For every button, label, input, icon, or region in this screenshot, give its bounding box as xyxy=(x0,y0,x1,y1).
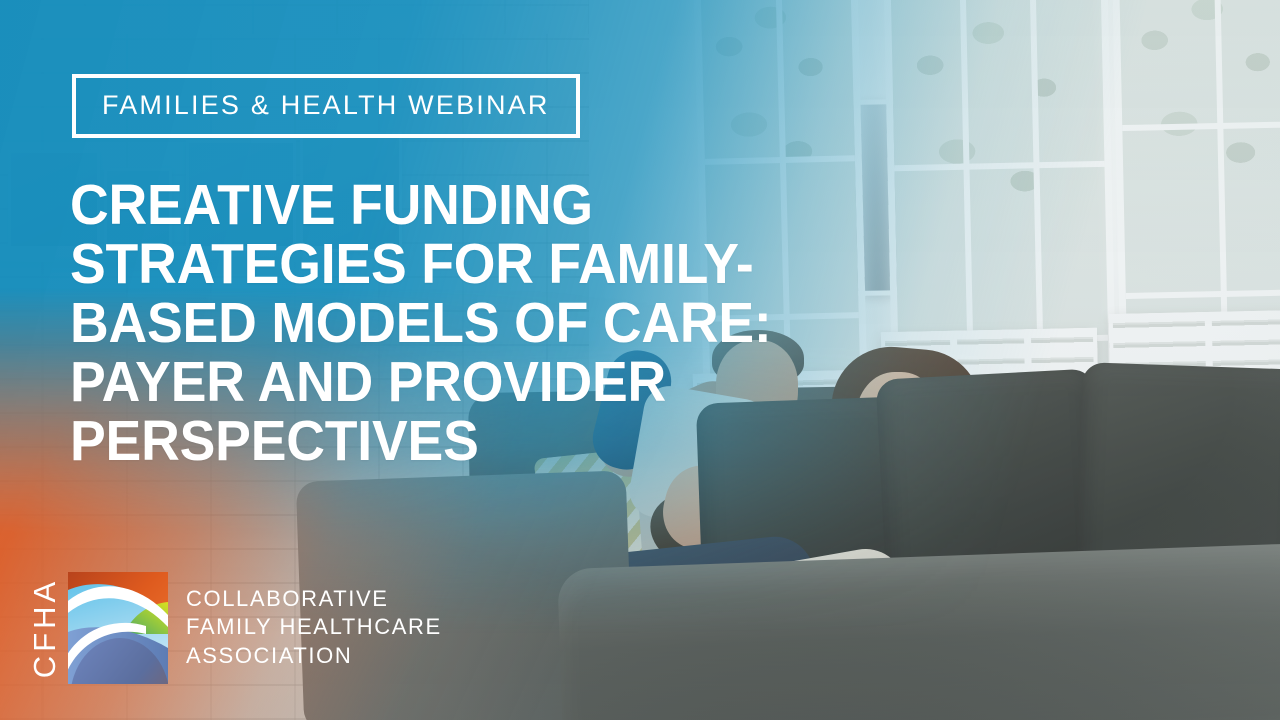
webinar-promo-graphic: FAMILIES & HEALTH WEBINAR CREATIVE FUNDI… xyxy=(0,0,1280,720)
page-title: CREATIVE FUNDING STRATEGIES FOR FAMILY- … xyxy=(70,176,766,471)
title-line-4: PAYER AND PROVIDER xyxy=(70,353,766,412)
cfha-arc-logo-icon xyxy=(68,572,168,684)
title-line-3: BASED MODELS OF CARE: xyxy=(70,294,766,353)
cfha-logo: CFHA xyxy=(28,565,442,690)
webinar-label: FAMILIES & HEALTH WEBINAR xyxy=(102,92,550,119)
logo-initials-text: CFHA xyxy=(27,577,63,677)
logo-wordmark-line-1: COLLABORATIVE xyxy=(186,585,442,614)
webinar-label-box: FAMILIES & HEALTH WEBINAR xyxy=(72,74,580,138)
content-layer: FAMILIES & HEALTH WEBINAR CREATIVE FUNDI… xyxy=(0,0,1280,720)
logo-wordmark: COLLABORATIVE FAMILY HEALTHCARE ASSOCIAT… xyxy=(186,585,442,671)
logo-initials: CFHA xyxy=(28,565,62,690)
title-line-2: STRATEGIES FOR FAMILY- xyxy=(70,235,766,294)
title-line-1: CREATIVE FUNDING xyxy=(70,176,766,235)
title-line-5: PERSPECTIVES xyxy=(70,412,766,471)
logo-wordmark-line-2: FAMILY HEALTHCARE xyxy=(186,613,442,642)
logo-wordmark-line-3: ASSOCIATION xyxy=(186,642,442,671)
